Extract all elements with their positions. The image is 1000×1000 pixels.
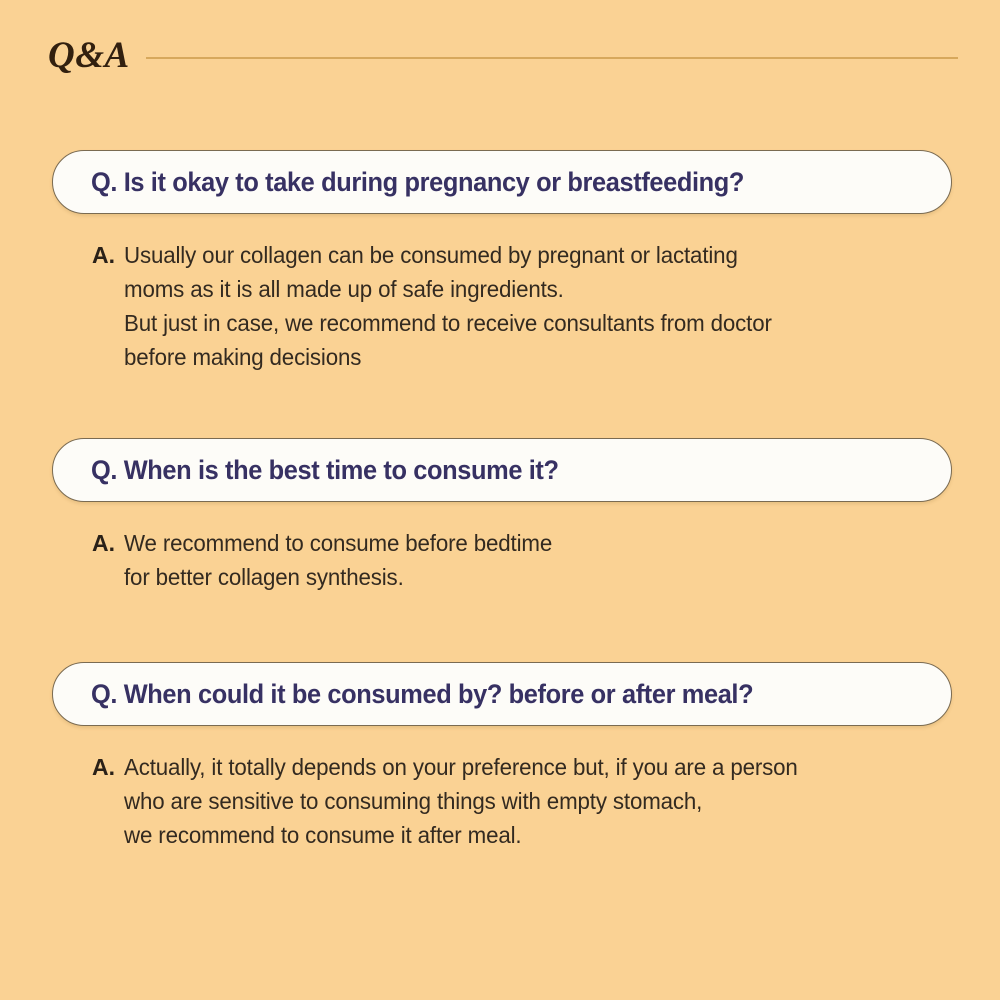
question-pill[interactable]: Q. When could it be consumed by? before …	[52, 662, 952, 726]
qa-page: Q&A Q. Is it okay to take during pregnan…	[0, 0, 1000, 1000]
page-header: Q&A	[0, 30, 1000, 80]
spacer	[0, 374, 1000, 438]
answer-block: A. Usually our collagen can be consumed …	[92, 238, 960, 374]
answer-line: for better collagen synthesis.	[124, 560, 935, 594]
answer-lines: Usually our collagen can be consumed by …	[124, 238, 960, 374]
question-pill[interactable]: Q. Is it okay to take during pregnancy o…	[52, 150, 952, 214]
qa-item: Q. Is it okay to take during pregnancy o…	[0, 150, 1000, 374]
answer-line: who are sensitive to consuming things wi…	[124, 784, 935, 818]
answer-line: We recommend to consume before bedtime	[124, 526, 935, 560]
question-text: Q. When is the best time to consume it?	[91, 457, 559, 484]
qa-item: Q. When is the best time to consume it? …	[0, 438, 1000, 594]
qa-list: Q. Is it okay to take during pregnancy o…	[0, 150, 1000, 852]
question-text: Q. Is it okay to take during pregnancy o…	[91, 169, 744, 196]
answer-line: we recommend to consume it after meal.	[124, 818, 935, 852]
answer-line: before making decisions	[124, 340, 935, 374]
answer-marker: A.	[92, 526, 115, 560]
spacer	[0, 502, 1000, 526]
question-pill[interactable]: Q. When is the best time to consume it?	[52, 438, 952, 502]
answer-line: Usually our collagen can be consumed by …	[124, 238, 935, 272]
answer-line: But just in case, we recommend to receiv…	[124, 306, 935, 340]
answer-block: A. We recommend to consume before bedtim…	[92, 526, 960, 594]
spacer	[0, 726, 1000, 750]
qa-item: Q. When could it be consumed by? before …	[0, 662, 1000, 852]
answer-line: moms as it is all made up of safe ingred…	[124, 272, 935, 306]
question-text: Q. When could it be consumed by? before …	[91, 681, 753, 708]
spacer	[0, 214, 1000, 238]
answer-marker: A.	[92, 750, 115, 784]
spacer	[0, 594, 1000, 662]
answer-lines: Actually, it totally depends on your pre…	[124, 750, 960, 852]
answer-lines: We recommend to consume before bedtime f…	[124, 526, 960, 594]
answer-marker: A.	[92, 238, 115, 272]
answer-line: Actually, it totally depends on your pre…	[124, 750, 935, 784]
page-title: Q&A	[48, 37, 130, 74]
header-divider	[146, 57, 958, 59]
answer-block: A. Actually, it totally depends on your …	[92, 750, 960, 852]
